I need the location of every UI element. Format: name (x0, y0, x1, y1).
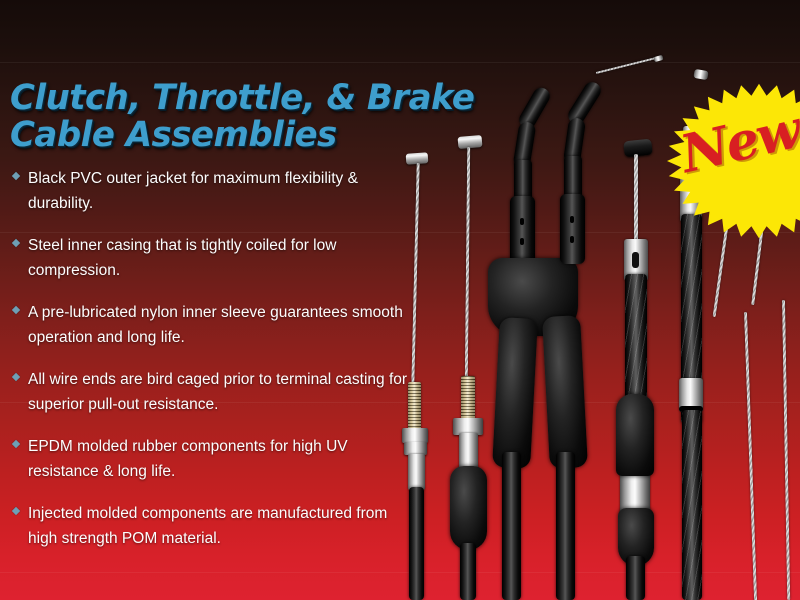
new-badge: New! (664, 86, 800, 236)
cable-housing-vent (570, 216, 574, 223)
cable-inner-wire (744, 312, 757, 600)
feature-text: Steel inner casing that is tightly coile… (28, 237, 336, 279)
list-item: Black PVC outer jacket for maximum flexi… (10, 166, 410, 216)
diamond-bullet-icon (12, 440, 20, 448)
cable-outer-jacket (556, 452, 575, 600)
cable-ferrule (408, 454, 425, 490)
list-item: A pre-lubricated nylon inner sleeve guar… (10, 300, 410, 350)
starburst-icon (664, 86, 800, 236)
cable-outer-jacket (502, 452, 521, 600)
cable-housing-vent (520, 218, 524, 225)
list-item: EPDM molded rubber components for high U… (10, 434, 410, 484)
cable-inner-wire (634, 154, 638, 246)
title-line-2: Cable Assemblies (10, 117, 514, 154)
diamond-bullet-icon (12, 373, 20, 381)
cable-rubber-boot (616, 394, 654, 476)
feature-text: EPDM molded rubber components for high U… (28, 438, 348, 480)
cable-outer-jacket (460, 543, 476, 600)
feature-list: Black PVC outer jacket for maximum flexi… (10, 166, 410, 568)
feature-text: Injected molded components are manufactu… (28, 505, 387, 547)
cable-threaded-adjuster (461, 376, 475, 422)
cable-molded-housing (510, 196, 535, 266)
cable-inner-wire (782, 300, 790, 600)
product-banner: Clutch, Throttle, & Brake Cable Assembli… (0, 0, 800, 600)
feature-text: All wire ends are bird caged prior to te… (28, 371, 407, 413)
cable-wire-tip (653, 55, 663, 62)
cable-housing-vent (570, 236, 574, 243)
list-item: All wire ends are bird caged prior to te… (10, 367, 410, 417)
cable-inner-wire (465, 147, 470, 382)
diamond-bullet-icon (12, 306, 20, 314)
cable-outer-jacket (409, 487, 424, 600)
list-item: Injected molded components are manufactu… (10, 501, 410, 551)
cable-inner-wire (411, 163, 419, 385)
feature-text: A pre-lubricated nylon inner sleeve guar… (28, 304, 403, 346)
page-title: Clutch, Throttle, & Brake Cable Assembli… (10, 80, 530, 154)
cable-adjuster-slot (632, 252, 639, 268)
cable-rubber-boot (450, 466, 487, 550)
diamond-bullet-icon (12, 172, 20, 180)
cable-molded-housing (560, 194, 585, 264)
cable-junction-boot (492, 317, 538, 469)
cable-inner-wire (596, 57, 659, 74)
cable-junction-boot (542, 315, 588, 469)
diamond-bullet-icon (12, 507, 20, 515)
feature-text: Black PVC outer jacket for maximum flexi… (28, 170, 358, 212)
list-item: Steel inner casing that is tightly coile… (10, 233, 410, 283)
cable-coiled-jacket (682, 410, 702, 600)
cable-housing-vent (520, 238, 524, 245)
title-line-1: Clutch, Throttle, & Brake (10, 80, 514, 117)
diamond-bullet-icon (12, 239, 20, 247)
cable-outer-jacket (626, 556, 645, 600)
cable-wire-tip (693, 69, 708, 80)
cable-barrel-end (623, 139, 653, 158)
